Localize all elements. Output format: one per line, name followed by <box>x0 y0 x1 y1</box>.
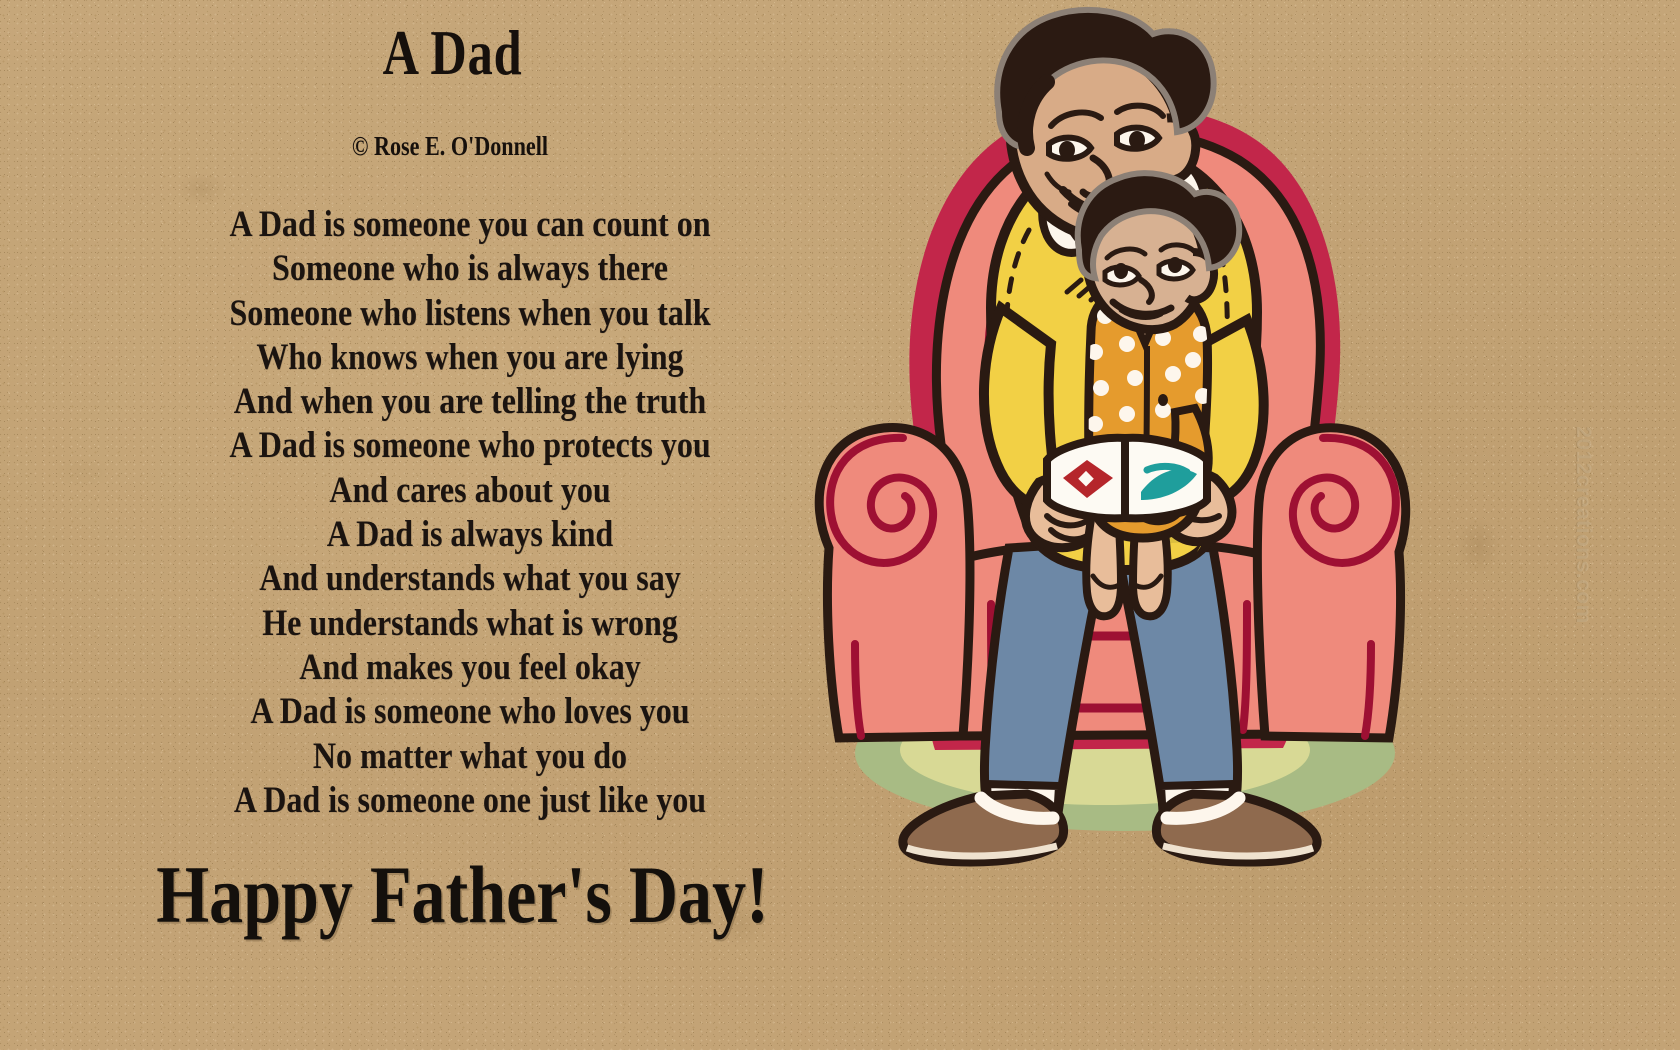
armchair-arm-right <box>1257 428 1405 738</box>
author-byline: © Rose E. O'Donnell <box>81 131 819 162</box>
poem-body: A Dad is someone you can count onSomeone… <box>0 203 940 823</box>
poem-line: A Dad is always kind <box>63 513 876 557</box>
poem-column: A Dad © Rose E. O'Donnell A Dad is someo… <box>0 0 940 1050</box>
picture-book <box>1047 438 1207 519</box>
poem-line: No matter what you do <box>63 735 876 779</box>
poem-line: He understands what is wrong <box>63 602 876 646</box>
poem-line: And cares about you <box>63 469 876 513</box>
poem-line: A Dad is someone who loves you <box>63 690 876 734</box>
closing-greeting: Happy Father's Day! <box>79 854 847 936</box>
poem-line: A Dad is someone who protects you <box>63 424 876 468</box>
poem-line: And makes you feel okay <box>63 646 876 690</box>
card-canvas: A Dad © Rose E. O'Donnell A Dad is someo… <box>0 0 1680 1050</box>
poem-line: A Dad is someone you can count on <box>63 203 876 247</box>
poem-line: Someone who listens when you talk <box>63 292 876 336</box>
page-title: A Dad <box>91 22 815 85</box>
poem-line: Someone who is always there <box>63 247 876 291</box>
poem-line: Who knows when you are lying <box>63 336 876 380</box>
poem-line: And understands what you say <box>63 557 876 601</box>
poem-line: A Dad is someone one just like you <box>63 779 876 823</box>
poem-line: And when you are telling the truth <box>63 380 876 424</box>
